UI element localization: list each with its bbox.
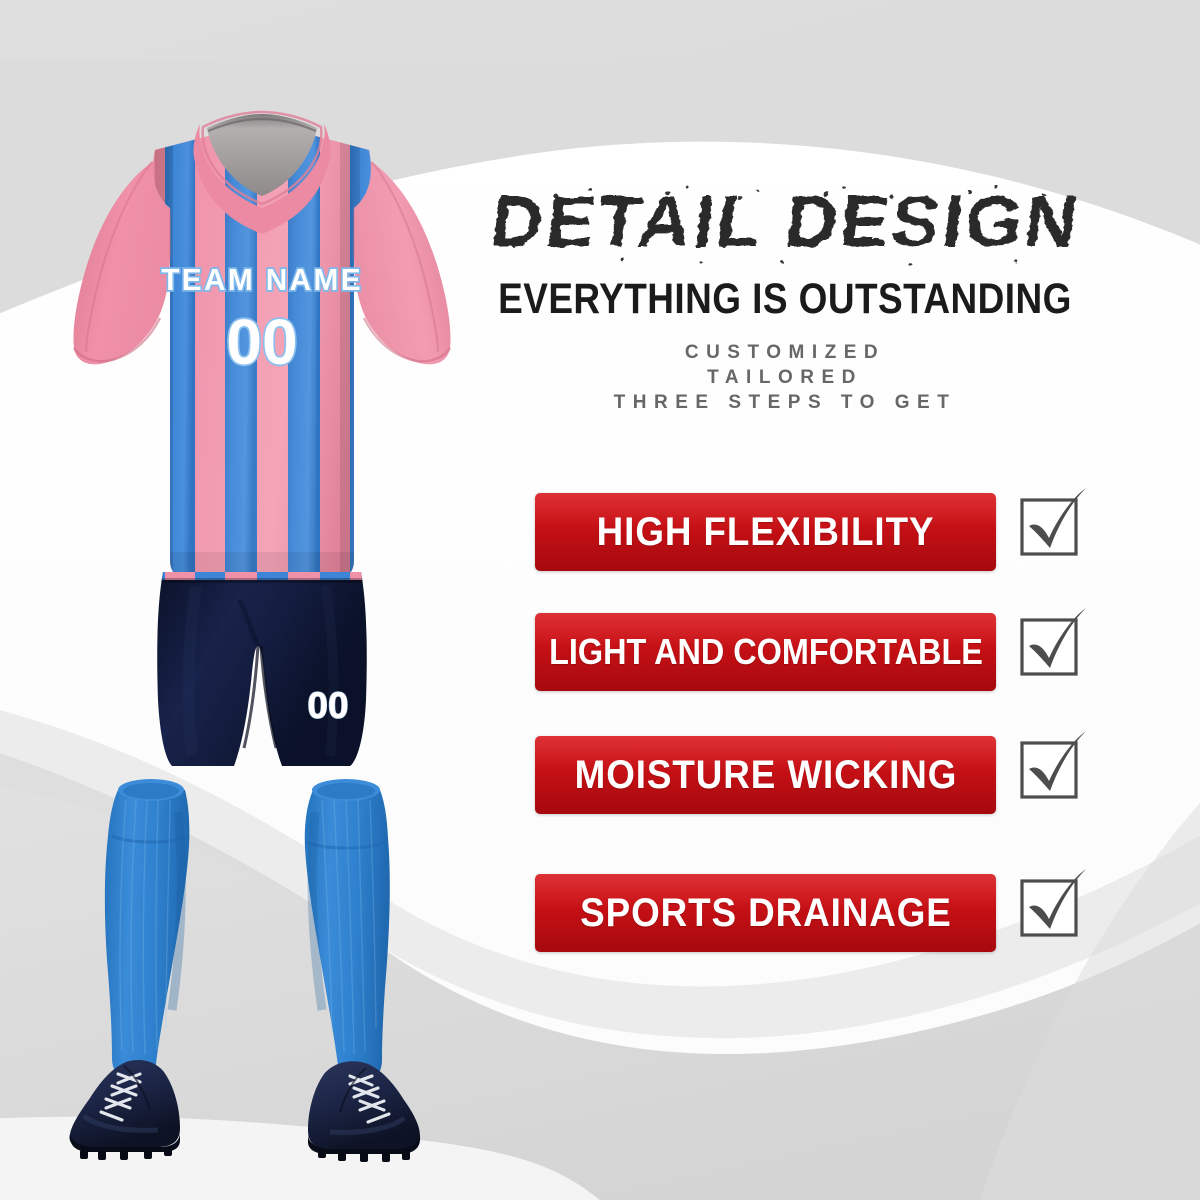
jersey-team-name-text: TEAM NAME [161,262,363,297]
feature-label: HIGH FLEXIBILITY [597,510,935,555]
jersey-number-text: 00 [226,306,297,378]
feature-row: LIGHT AND COMFORTABLE [535,612,1175,692]
checkbox-checked-icon [1016,616,1088,688]
jersey: TEAM NAME 00 [74,112,451,590]
feature-label: MOISTURE WICKING [574,753,957,798]
feature-bar-sports-drainage: SPORTS DRAINAGE [535,874,996,952]
cleats [70,1060,421,1162]
feature-row: HIGH FLEXIBILITY [535,492,1175,572]
feature-bar-high-flexibility: HIGH FLEXIBILITY [535,493,996,571]
checkbox-checked-icon [1016,877,1088,949]
feature-bar-moisture-wicking: MOISTURE WICKING [535,736,996,814]
feature-row: MOISTURE WICKING [535,735,1175,815]
feature-list: HIGH FLEXIBILITY LIGHT AND COMFORTABLE [440,0,1200,1200]
shorts-number-text: 00 [307,685,348,726]
cleat-right [308,1061,420,1162]
cleat-left [70,1060,180,1160]
shorts: 00 [150,566,380,766]
checkbox-checked-icon [1016,739,1088,811]
socks [105,779,390,1082]
feature-label: LIGHT AND COMFORTABLE [549,631,983,673]
feature-bar-light-and-comfortable: LIGHT AND COMFORTABLE [535,613,996,691]
feature-row: SPORTS DRAINAGE [535,873,1175,953]
content-column: DETAIL DESIGN [440,0,1200,1200]
feature-label: SPORTS DRAINAGE [580,891,952,936]
checkbox-checked-icon [1016,496,1088,568]
